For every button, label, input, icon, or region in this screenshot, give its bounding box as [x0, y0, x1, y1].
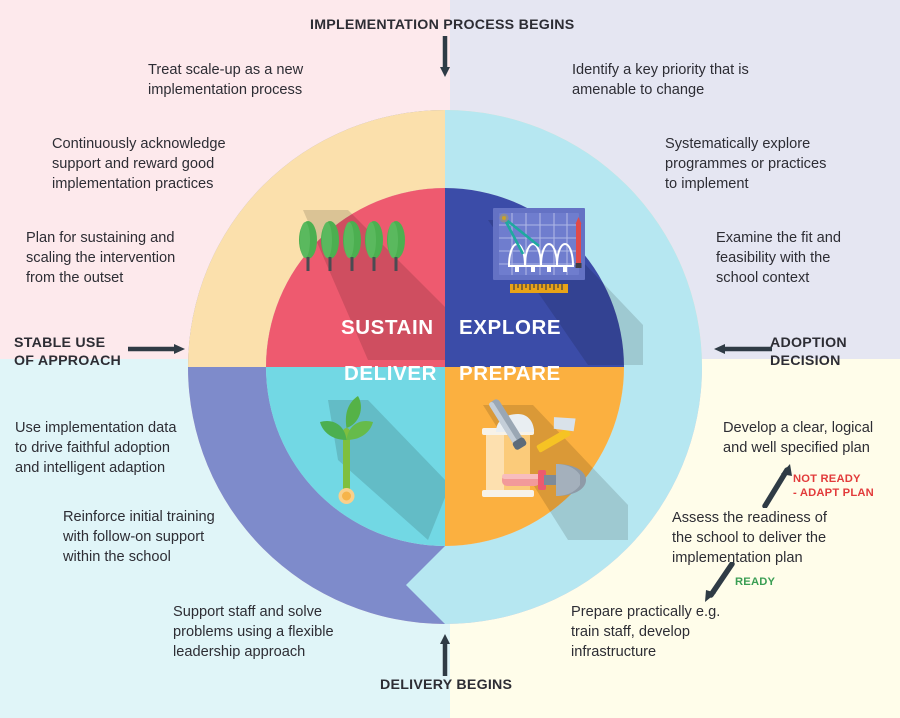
arrow-up-bottom [436, 634, 456, 676]
arrow-right-left-side [128, 340, 186, 360]
caption-implementation-begins: IMPLEMENTATION PROCESS BEGINS [310, 16, 574, 34]
quadrant-label-prepare[interactable]: PREPARE [459, 362, 561, 386]
caption-delivery-begins: DELIVERY BEGINS [380, 676, 512, 694]
diagram-canvas: SUSTAIN EXPLORE DELIVER PREPARE Treat sc… [0, 0, 900, 718]
note-deliver-1: Use implementation data to drive faithfu… [15, 418, 295, 478]
note-prepare-2: Assess the readiness of the school to de… [672, 508, 900, 568]
quadrant-label-explore[interactable]: EXPLORE [459, 316, 561, 340]
note-deliver-2: Reinforce initial training with follow-o… [63, 507, 343, 567]
note-prepare-1: Develop a clear, logical and well specif… [723, 418, 900, 458]
arrow-ready-branch [700, 562, 740, 604]
arrow-left-right-side [714, 340, 772, 360]
quadrant-label-deliver[interactable]: DELIVER [344, 362, 437, 386]
note-sustain-2: Continuously acknowledge support and rew… [52, 134, 312, 194]
note-sustain-1: Treat scale-up as a new implementation p… [148, 60, 408, 100]
caption-stable-use-of-approach: STABLE USE OF APPROACH [14, 334, 121, 370]
branch-label-not-ready: NOT READY - ADAPT PLAN [793, 472, 874, 500]
note-deliver-3: Support staff and solve problems using a… [173, 602, 453, 662]
note-explore-1: Identify a key priority that is amenable… [572, 60, 852, 100]
caption-adoption-decision: ADOPTION DECISION [770, 334, 847, 370]
arrow-not-ready-branch [757, 464, 797, 508]
quadrant-label-sustain[interactable]: SUSTAIN [341, 316, 434, 340]
note-explore-3: Examine the fit and feasibility with the… [716, 228, 900, 288]
note-sustain-3: Plan for sustaining and scaling the inte… [26, 228, 286, 288]
branch-label-ready: READY [735, 575, 775, 589]
arrow-down-top [436, 36, 456, 78]
note-explore-2: Systematically explore programmes or pra… [665, 134, 900, 194]
note-prepare-3: Prepare practically e.g. train staff, de… [571, 602, 851, 662]
